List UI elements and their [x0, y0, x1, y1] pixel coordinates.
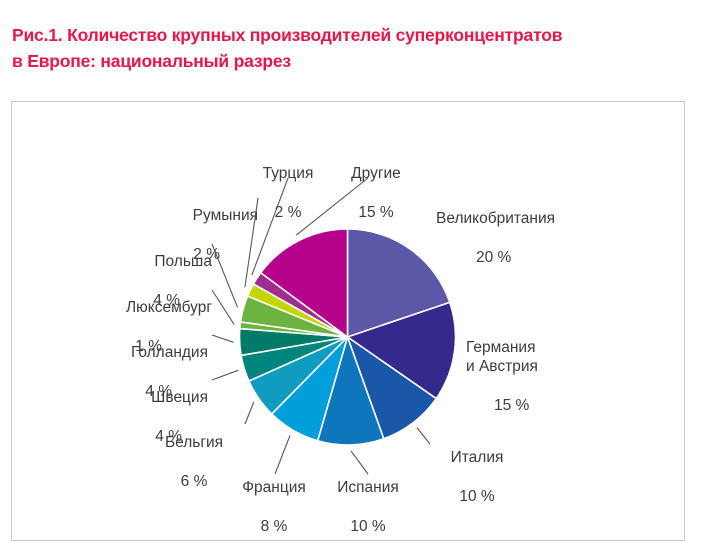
pie-label-others-value: 15 %	[334, 203, 418, 223]
pie-label-turkey-value: 2 %	[246, 203, 330, 223]
pie-label-italy-name: Италия	[432, 448, 522, 468]
pie-label-poland-value: 4 %	[92, 291, 212, 311]
pie-label-germany: Германия и Австрия 15 %	[466, 318, 596, 435]
pie-label-turkey: Турция 2 %	[246, 144, 330, 242]
figure-root: Рис.1. Количество крупных производителей…	[0, 0, 709, 560]
pie-label-holland-value: 4 %	[76, 382, 208, 402]
pie-label-luxembourg-value: 1 %	[60, 337, 212, 357]
pie-label-spain-value: 10 %	[320, 517, 416, 537]
pie-label-germany-name: Германия и Австрия	[466, 338, 596, 377]
pie-label-others-name: Другие	[334, 164, 418, 184]
pie-label-spain-name: Испания	[320, 478, 416, 498]
page-title: Рис.1. Количество крупных производителей…	[12, 22, 672, 74]
pie-label-uk: Великобритания 20 %	[436, 189, 596, 287]
pie-label-romania-value: 2 %	[138, 245, 258, 265]
pie-label-turkey-name: Турция	[246, 164, 330, 184]
pie-label-belgium-value: 6 %	[148, 472, 240, 492]
pie-label-france-name: Франция	[228, 478, 320, 498]
pie-label-others: Другие 15 %	[334, 144, 418, 242]
pie-label-uk-name: Великобритания	[436, 209, 596, 229]
pie-label-romania-name: Румыния	[138, 206, 258, 226]
pie-label-italy-value: 10 %	[432, 487, 522, 507]
pie-label-spain: Испания 10 %	[320, 458, 416, 556]
pie-label-italy: Италия 10 %	[432, 428, 522, 526]
pie-label-romania: Румыния 2 %	[138, 186, 258, 284]
pie-label-uk-value: 20 %	[436, 248, 596, 268]
pie-label-sweden-value: 4 %	[96, 427, 208, 447]
pie-label-france: Франция 8 %	[228, 458, 320, 556]
pie-label-france-value: 8 %	[228, 517, 320, 537]
pie-label-germany-value: 15 %	[466, 396, 596, 416]
